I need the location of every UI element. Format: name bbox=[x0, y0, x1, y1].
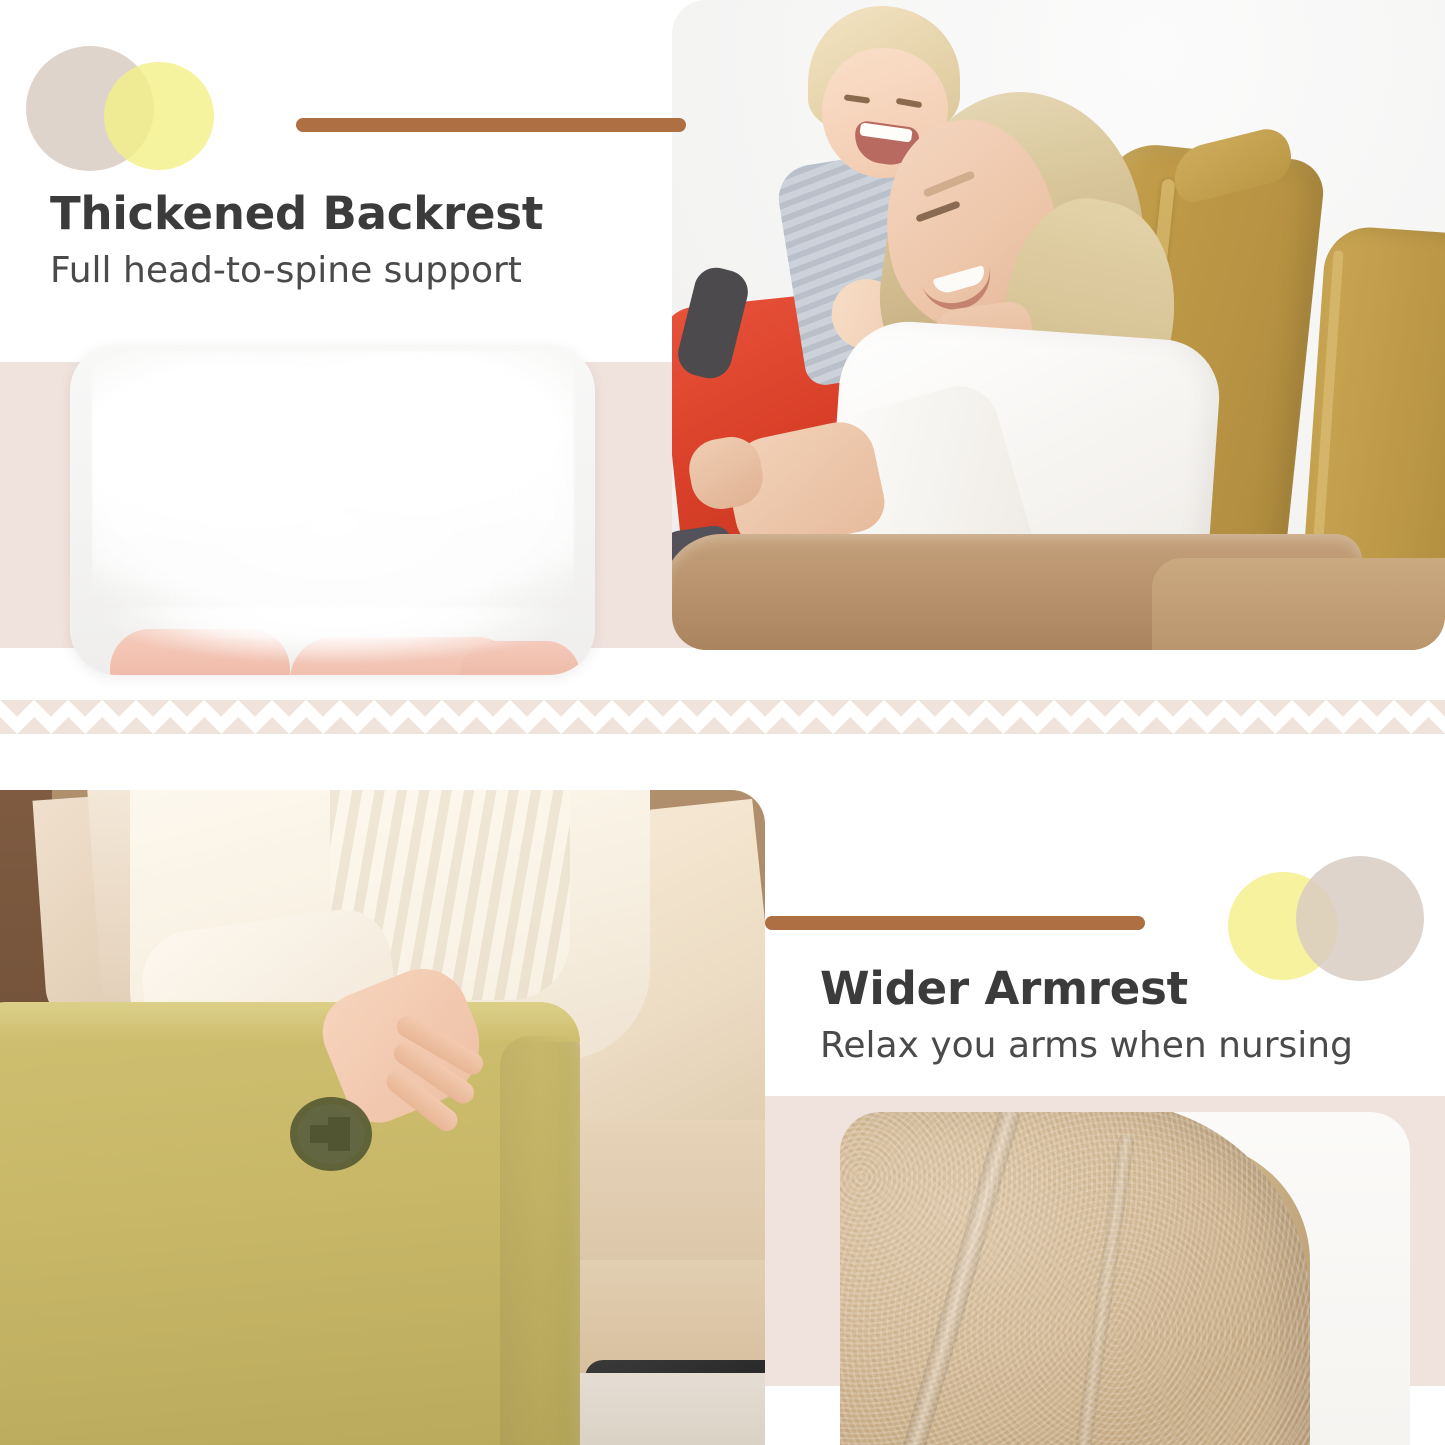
detail-photo-armrest-closeup bbox=[840, 1112, 1410, 1445]
feature-title: Thickened Backrest bbox=[50, 190, 543, 237]
armrest-sherpa-texture bbox=[840, 1112, 1310, 1445]
chair-seat-cushion-right bbox=[1152, 558, 1445, 650]
detail-photo-fiber-fill bbox=[70, 345, 595, 675]
fiber-fill-cloud bbox=[92, 351, 574, 639]
chair-wide-armrest bbox=[0, 1005, 580, 1445]
feature-text-wider-armrest: Wider Armrest Relax you arms when nursin… bbox=[820, 965, 1353, 1067]
deco-circle-yellow bbox=[104, 62, 214, 170]
accent-rule-bottom bbox=[765, 916, 1145, 930]
feature-subtitle: Relax you arms when nursing bbox=[820, 1026, 1353, 1066]
chair-armrest-top-edge bbox=[0, 1002, 580, 1042]
fiber-fill-wisps bbox=[100, 607, 570, 671]
accent-rule-top bbox=[296, 118, 686, 132]
hero-photo-mother-and-baby bbox=[672, 0, 1445, 650]
feature-title: Wider Armrest bbox=[820, 965, 1353, 1012]
feature-subtitle: Full head-to-spine support bbox=[50, 251, 543, 291]
deco-circle-beige bbox=[1296, 856, 1424, 981]
feature-text-thickened-backrest: Thickened Backrest Full head-to-spine su… bbox=[50, 190, 543, 292]
hero-photo-woman-reclining bbox=[0, 790, 765, 1445]
infographic-stage: Thickened Backrest Full head-to-spine su… bbox=[0, 0, 1445, 1445]
deco-overlapping-circles-bottom bbox=[1228, 856, 1423, 981]
chair-armrest-seam bbox=[500, 1036, 572, 1445]
zigzag-divider-icon bbox=[0, 700, 1445, 734]
deco-overlapping-circles-top bbox=[26, 46, 221, 171]
recliner-lever-icon bbox=[288, 1095, 374, 1173]
